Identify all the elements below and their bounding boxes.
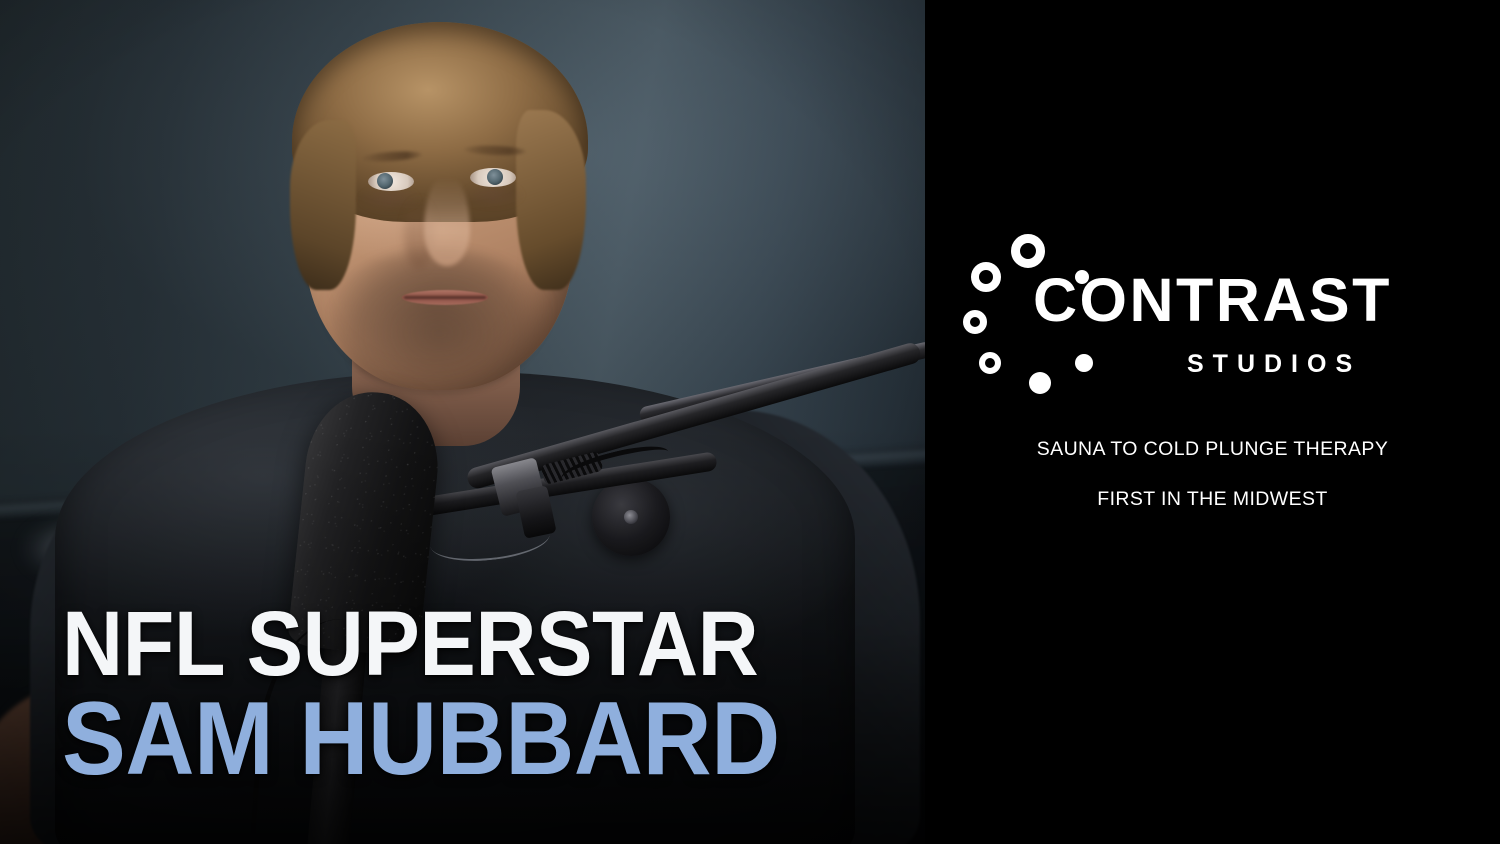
dot-lower-right-icon <box>1075 354 1093 372</box>
subject-nose <box>424 178 470 266</box>
ring-lower-left-icon <box>979 352 1001 374</box>
subject-lip-line <box>404 296 486 299</box>
ring-mid-left-icon <box>963 310 987 334</box>
subject-eye-right <box>470 168 516 187</box>
subject-hair-right-side <box>516 110 586 290</box>
episode-title-overlay: NFL SUPERSTAR SAM HUBBARD <box>62 602 912 788</box>
subject-eye-left <box>368 172 414 191</box>
brand-panel-inner: CONTRAST STUDIOS SAUNA TO COLD PLUNGE TH… <box>925 0 1500 844</box>
headline-line-1: NFL SUPERSTAR <box>62 602 844 688</box>
dot-bottom-icon <box>1029 372 1051 394</box>
ring-top-icon <box>1011 234 1045 268</box>
subject-hair-left-side <box>290 120 356 290</box>
tagline-line-2: FIRST IN THE MIDWEST <box>925 490 1500 510</box>
tagline-line-1: SAUNA TO COLD PLUNGE THERAPY <box>925 440 1500 460</box>
thumbnail-canvas: NFL SUPERSTAR SAM HUBBARD CONTRAST STUDI… <box>0 0 1500 844</box>
contrast-studios-logo: CONTRAST STUDIOS <box>955 232 1475 397</box>
boom-arm-hinge-knob <box>592 478 670 556</box>
headline-line-2: SAM HUBBARD <box>62 691 844 788</box>
iris-right <box>487 169 503 185</box>
guest-photo-panel: NFL SUPERSTAR SAM HUBBARD <box>0 0 925 844</box>
ring-upper-left-icon <box>971 262 1001 292</box>
logo-sub-wordmark: STUDIOS <box>1187 352 1361 377</box>
brand-panel: CONTRAST STUDIOS SAUNA TO COLD PLUNGE TH… <box>925 0 1500 844</box>
iris-left <box>377 173 393 189</box>
brand-tagline: SAUNA TO COLD PLUNGE THERAPY FIRST IN TH… <box>925 440 1500 509</box>
logo-wordmark: CONTRAST <box>1033 270 1392 331</box>
